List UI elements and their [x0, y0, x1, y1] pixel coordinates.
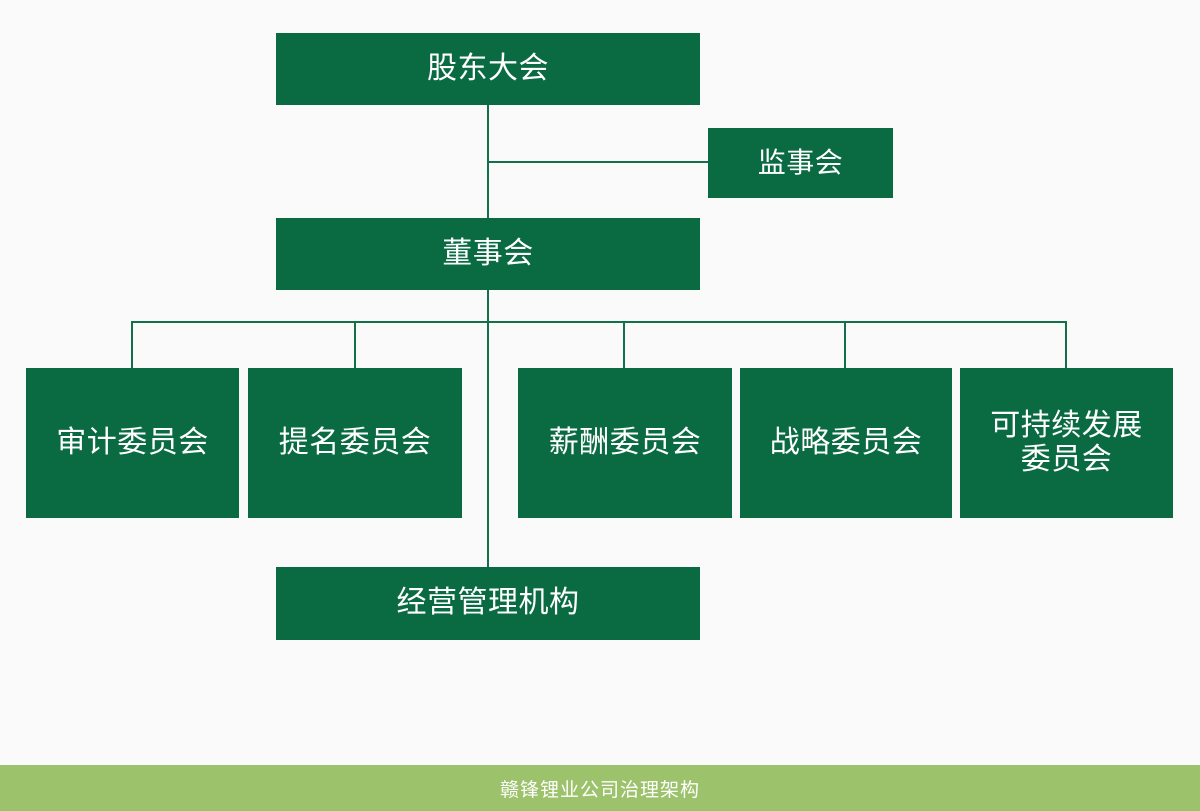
org-chart: 股东大会 监事会 董事会 审计委员会 提名委员会 薪酬委员会 战略委员会 可持续…	[0, 0, 1200, 811]
node-shareholders-meeting-label: 股东大会	[421, 52, 555, 86]
connector-drop-remuneration	[623, 321, 625, 369]
caption-bar: 赣锋锂业公司治理架构	[0, 765, 1200, 811]
node-remuneration-committee: 薪酬委员会	[518, 368, 732, 518]
node-board-of-directors-label: 董事会	[436, 237, 540, 271]
node-audit-committee-label: 审计委员会	[50, 426, 215, 460]
connector-committee-bus	[131, 321, 1067, 323]
node-management-organization-label: 经营管理机构	[391, 586, 586, 620]
node-sustainability-committee-label: 可持续发展 委员会	[984, 409, 1149, 477]
node-board-of-supervisors: 监事会	[708, 128, 893, 198]
connector-drop-audit	[131, 321, 133, 369]
node-strategy-committee-label: 战略委员会	[764, 426, 929, 460]
connector-drop-strategy	[844, 321, 846, 369]
node-board-of-supervisors-label: 监事会	[752, 147, 850, 179]
node-nomination-committee-label: 提名委员会	[273, 426, 438, 460]
caption-text: 赣锋锂业公司治理架构	[500, 775, 700, 802]
node-remuneration-committee-label: 薪酬委员会	[543, 426, 708, 460]
node-strategy-committee: 战略委员会	[740, 368, 952, 518]
node-shareholders-meeting: 股东大会	[276, 33, 700, 105]
connector-vertical-spine	[487, 105, 489, 568]
connector-drop-sustainability	[1065, 321, 1067, 369]
node-nomination-committee: 提名委员会	[248, 368, 462, 518]
node-management-organization: 经营管理机构	[276, 567, 700, 640]
node-board-of-directors: 董事会	[276, 218, 700, 290]
node-sustainability-committee: 可持续发展 委员会	[960, 368, 1173, 518]
connector-to-supervisors	[487, 161, 709, 163]
node-audit-committee: 审计委员会	[26, 368, 239, 518]
connector-drop-nomination	[354, 321, 356, 369]
